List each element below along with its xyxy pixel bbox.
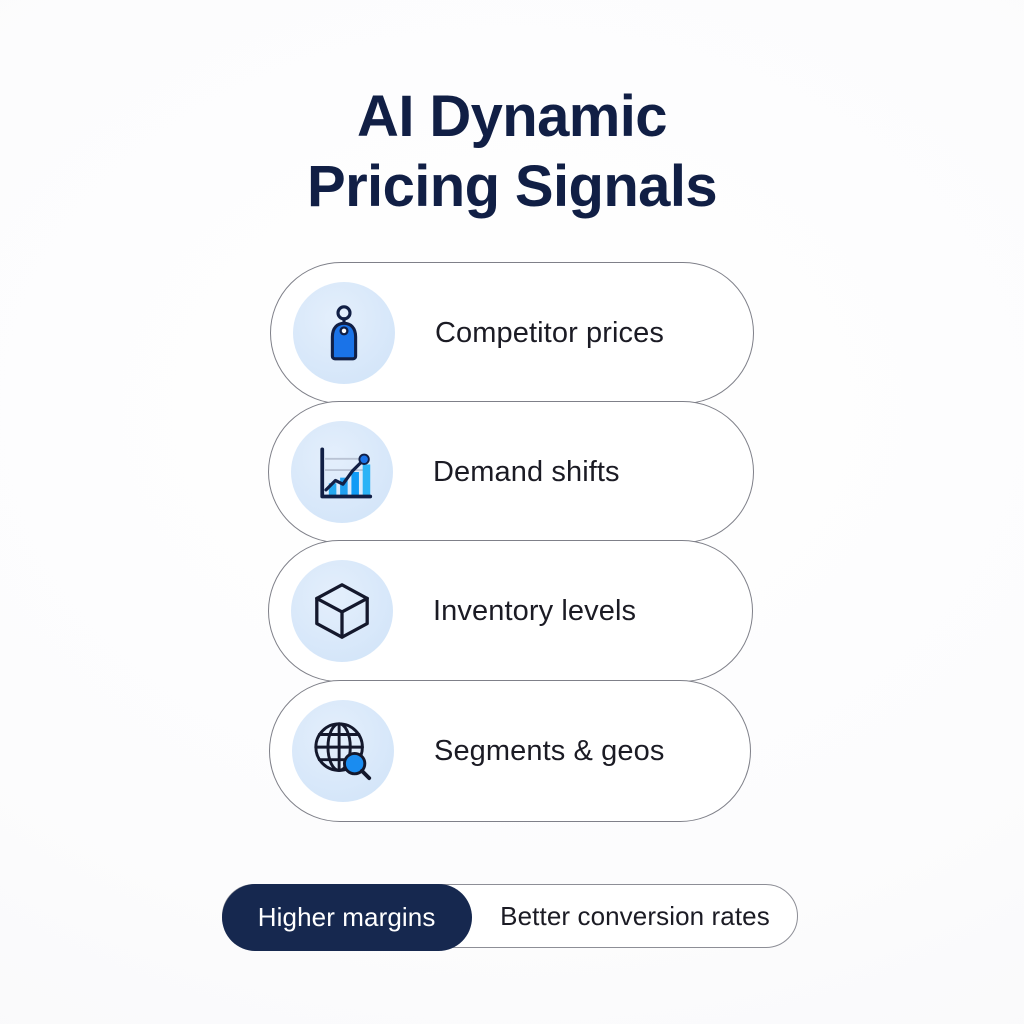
signal-label: Inventory levels (433, 595, 636, 628)
bar-chart-trend-icon (310, 441, 374, 503)
signal-label: Competitor prices (435, 317, 664, 350)
icon-bubble (292, 700, 394, 802)
price-tag-icon (313, 302, 375, 364)
page-title: AI Dynamic Pricing Signals (0, 82, 1024, 222)
infographic-canvas: AI Dynamic Pricing Signals Competitor pr… (0, 0, 1024, 1024)
signal-card-inventory-levels[interactable]: Inventory levels (268, 540, 753, 682)
page-title-line-2: Pricing Signals (0, 152, 1024, 222)
signal-label: Demand shifts (433, 456, 620, 489)
toggle-option-better-conversion-rates[interactable]: Better conversion rates (473, 884, 797, 948)
icon-bubble (293, 282, 395, 384)
page-title-line-1: AI Dynamic (0, 82, 1024, 152)
signal-label: Segments & geos (434, 735, 664, 768)
outcome-toggle-group[interactable]: Higher margins Better conversion rates (222, 884, 798, 948)
cube-box-icon (311, 580, 373, 642)
toggle-option-higher-margins[interactable]: Higher margins (222, 884, 472, 951)
signal-card-segments-geos[interactable]: Segments & geos (269, 680, 751, 822)
icon-bubble (291, 421, 393, 523)
globe-search-icon (311, 719, 375, 783)
signal-card-list: Competitor prices (0, 262, 1024, 842)
signal-card-competitor-prices[interactable]: Competitor prices (270, 262, 754, 404)
signal-card-demand-shifts[interactable]: Demand shifts (268, 401, 754, 543)
icon-bubble (291, 560, 393, 662)
